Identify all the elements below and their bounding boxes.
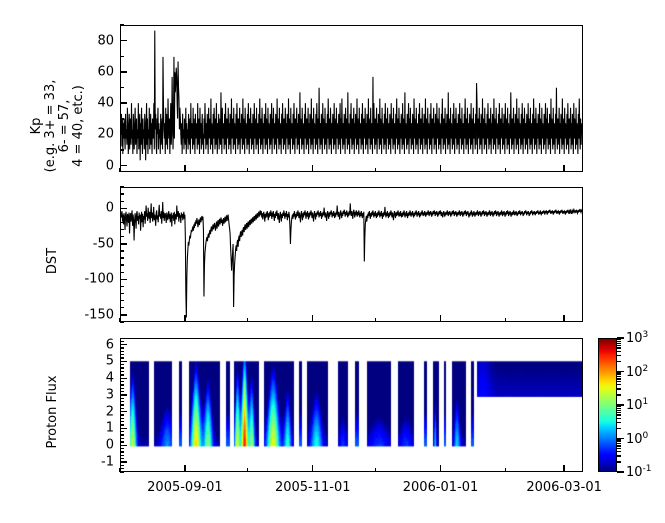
colorbar-tick-minor (617, 451, 621, 452)
y-tick-minor (120, 354, 124, 355)
y-tick-minor (120, 465, 124, 466)
y-tick-minor (120, 374, 124, 375)
x-tick-minor (375, 468, 376, 472)
y-tick-label: 4 (74, 371, 114, 386)
colorbar-tick-minor (617, 394, 621, 395)
colorbar-tick-minor (617, 422, 621, 423)
y-tick-minor (120, 367, 124, 368)
kp-series-line (121, 26, 582, 171)
y-tick-minor (120, 357, 124, 358)
y-tick-label: 3 (74, 387, 114, 402)
y-tick-label: 0 (74, 438, 114, 453)
colorbar-tick-minor (617, 410, 621, 411)
colorbar-tick-minor (617, 347, 621, 348)
x-tick-major (563, 165, 564, 172)
colorbar-tick-minor (617, 345, 621, 346)
y-tick-minor (120, 404, 124, 405)
kp-axis-label-line1: Kp (30, 46, 44, 206)
y-tick-major (120, 361, 127, 362)
y-tick-minor (120, 87, 124, 88)
x-tick-major (563, 315, 564, 322)
x-tick-minor (505, 468, 506, 472)
y-tick-major (120, 71, 127, 72)
colorbar-tick-major (617, 471, 624, 472)
y-tick-minor (120, 236, 124, 237)
colorbar-tick-minor (617, 439, 621, 440)
y-tick-label: -50 (74, 236, 114, 251)
y-tick-minor (120, 24, 124, 25)
colorbar-tick-minor (617, 381, 621, 382)
y-tick-label: -100 (74, 272, 114, 287)
x-tick-label: 2005-11-01 (275, 480, 351, 495)
x-tick-major (184, 315, 185, 322)
y-tick-major (120, 102, 127, 103)
y-tick-minor (120, 293, 124, 294)
space-weather-figure: Kp (e.g. 3+ = 33, 6- = 57, 4 = 40, etc.)… (0, 0, 665, 523)
x-tick-minor (119, 168, 120, 172)
x-tick-major (440, 465, 441, 472)
colorbar-tick-minor (617, 408, 621, 409)
y-tick-minor (120, 250, 124, 251)
colorbar-tick-minor (617, 343, 621, 344)
x-tick-minor (375, 168, 376, 172)
y-tick-minor (120, 434, 124, 435)
y-tick-minor (120, 364, 124, 365)
y-tick-minor (120, 286, 124, 287)
y-tick-minor (120, 201, 124, 202)
y-tick-label: 0 (74, 201, 114, 216)
y-tick-major (120, 165, 127, 166)
colorbar-tick-minor (617, 445, 621, 446)
y-tick-major (120, 378, 127, 379)
y-tick-label: 1 (74, 421, 114, 436)
colorbar-tick-minor (617, 374, 621, 375)
x-tick-label: 2006-03-01 (526, 480, 602, 495)
colorbar-tick-minor (617, 384, 621, 385)
y-tick-minor (120, 421, 124, 422)
colorbar-tick-label: 103 (626, 330, 648, 346)
x-tick-major (184, 165, 185, 172)
y-tick-minor (120, 351, 124, 352)
y-tick-minor (120, 222, 124, 223)
y-tick-major (120, 428, 127, 429)
y-tick-label: -150 (74, 307, 114, 322)
colorbar-tick-minor (617, 339, 621, 340)
y-tick-label: 60 (74, 64, 114, 79)
x-tick-minor (247, 468, 248, 472)
y-tick-label: 5 (74, 354, 114, 369)
y-tick-minor (120, 388, 124, 389)
y-tick-minor (120, 398, 124, 399)
x-tick-minor (119, 318, 120, 322)
x-tick-label: 2006-01-01 (403, 480, 479, 495)
y-tick-minor (120, 257, 124, 258)
y-tick-major (120, 394, 127, 395)
dst-axis-label-text: DST (46, 221, 60, 301)
colorbar-tick-minor (617, 461, 621, 462)
y-tick-minor (120, 455, 124, 456)
y-tick-minor (120, 441, 124, 442)
y-tick-major (120, 445, 127, 446)
proton-flux-heatmap (121, 339, 582, 471)
x-tick-minor (247, 318, 248, 322)
y-tick-minor (120, 384, 124, 385)
y-tick-major (120, 314, 127, 315)
colorbar-tick-minor (617, 355, 621, 356)
y-tick-minor (120, 414, 124, 415)
y-tick-minor (120, 391, 124, 392)
colorbar-tick-minor (617, 406, 621, 407)
proton-flux-axis-label-text: Proton Flux (46, 357, 60, 467)
colorbar-tick-minor (617, 412, 621, 413)
y-tick-major (120, 411, 127, 412)
y-tick-minor (120, 193, 124, 194)
y-tick-major (120, 279, 127, 280)
y-tick-minor (120, 215, 124, 216)
x-tick-minor (505, 318, 506, 322)
x-tick-major (563, 465, 564, 472)
x-tick-major (440, 165, 441, 172)
x-tick-minor (505, 168, 506, 172)
colorbar-tick-minor (617, 448, 621, 449)
y-tick-minor (120, 341, 124, 342)
y-tick-minor (120, 149, 124, 150)
y-tick-minor (120, 438, 124, 439)
y-tick-minor (120, 401, 124, 402)
colorbar-tick-label: 10-1 (626, 464, 652, 480)
x-tick-label: 2005-09-01 (147, 480, 223, 495)
colorbar-tick-minor (617, 361, 621, 362)
x-tick-major (312, 465, 313, 472)
colorbar-tick-minor (617, 388, 621, 389)
colorbar-tick-minor (617, 341, 621, 342)
x-tick-major (184, 465, 185, 472)
kp-axis-label-line3: 6- = 57, (58, 46, 72, 206)
y-tick-minor (120, 56, 124, 57)
colorbar-tick-minor (617, 378, 621, 379)
y-tick-minor (120, 408, 124, 409)
y-tick-label: -1 (74, 454, 114, 469)
x-tick-minor (375, 318, 376, 322)
y-tick-major (120, 208, 127, 209)
y-tick-label: 40 (74, 96, 114, 111)
y-tick-minor (120, 229, 124, 230)
dst-axis-label: DST (46, 221, 60, 301)
y-tick-major (120, 344, 127, 345)
colorbar-tick-label: 102 (626, 363, 648, 379)
y-tick-minor (120, 418, 124, 419)
y-tick-minor (120, 186, 124, 187)
y-tick-minor (120, 448, 124, 449)
colorbar-tick-minor (617, 443, 621, 444)
colorbar-tick-minor (617, 414, 621, 415)
y-tick-label: 20 (74, 127, 114, 142)
y-tick-minor (120, 424, 124, 425)
y-tick-major (120, 134, 127, 135)
y-tick-label: 2 (74, 404, 114, 419)
proton-flux-axis-label: Proton Flux (46, 357, 60, 467)
colorbar-tick-minor (617, 441, 621, 442)
y-tick-minor (120, 371, 124, 372)
x-tick-minor (119, 468, 120, 472)
x-tick-major (312, 315, 313, 322)
dst-series-line (121, 188, 582, 321)
y-tick-minor (120, 347, 124, 348)
y-tick-label: 0 (74, 158, 114, 173)
y-tick-major (120, 243, 127, 244)
colorbar-tick-minor (617, 428, 621, 429)
y-tick-major (120, 40, 127, 41)
y-tick-minor (120, 451, 124, 452)
y-tick-minor (120, 381, 124, 382)
y-tick-minor (120, 264, 124, 265)
colorbar-tick-minor (617, 418, 621, 419)
proton-flux-canvas (121, 339, 582, 471)
kp-axis-label-line2: (e.g. 3+ = 33, (44, 46, 58, 206)
colorbar-tick-label: 100 (626, 430, 648, 446)
y-tick-minor (120, 458, 124, 459)
x-tick-major (440, 315, 441, 322)
y-tick-minor (120, 272, 124, 273)
y-tick-minor (120, 118, 124, 119)
y-tick-minor (120, 307, 124, 308)
proton-flux-colorbar (598, 338, 617, 472)
colorbar-tick-minor (617, 372, 621, 373)
colorbar-tick-minor (617, 455, 621, 456)
x-tick-major (312, 165, 313, 172)
colorbar-tick-minor (617, 376, 621, 377)
y-tick-label: 80 (74, 33, 114, 48)
colorbar-tick-label: 101 (626, 397, 648, 413)
colorbar-tick-minor (617, 351, 621, 352)
y-tick-minor (120, 300, 124, 301)
x-tick-minor (247, 168, 248, 172)
y-tick-major (120, 461, 127, 462)
y-tick-minor (120, 431, 124, 432)
y-tick-label: 6 (74, 337, 114, 352)
